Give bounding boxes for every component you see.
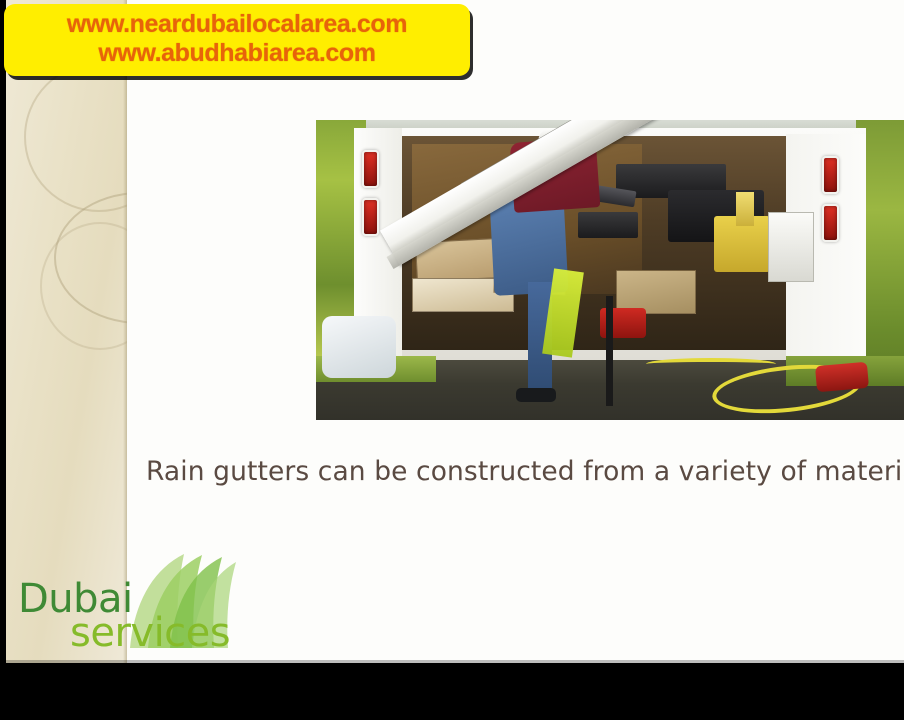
yellow-hose-segment xyxy=(646,358,776,370)
website-url-banner: www.neardubailocalarea.com www.abudhabia… xyxy=(4,4,470,76)
ring-decoration-1 xyxy=(24,62,127,212)
url-line-1: www.neardubailocalarea.com xyxy=(12,10,462,39)
white-bin xyxy=(768,212,814,282)
dark-pole xyxy=(606,296,613,406)
tail-light-right-lower xyxy=(822,204,839,242)
video-player-stage: Rain gutters can be constructed from a v… xyxy=(0,0,904,720)
white-bag xyxy=(322,316,396,378)
tail-light-left-lower xyxy=(362,198,379,236)
slide-bottom-shadow xyxy=(6,660,904,663)
gutter-installation-photo xyxy=(316,120,904,420)
tail-light-right-upper xyxy=(822,156,839,194)
caption-text: Rain gutters can be constructed from a v… xyxy=(146,452,904,492)
ring-decoration-3 xyxy=(40,222,127,350)
red-equipment-right xyxy=(815,362,869,392)
equipment-item-3 xyxy=(578,212,638,238)
dubai-services-logo: Dubai services xyxy=(14,556,254,660)
tail-light-left-upper xyxy=(362,150,379,188)
slide-frame: Rain gutters can be constructed from a v… xyxy=(6,0,904,663)
slide-content: Rain gutters can be constructed from a v… xyxy=(6,0,904,663)
yellow-machine-part xyxy=(736,192,754,226)
url-line-2: www.abudhabiarea.com xyxy=(12,39,462,68)
worker-shoe xyxy=(516,388,556,402)
logo-text-services: services xyxy=(70,610,230,656)
